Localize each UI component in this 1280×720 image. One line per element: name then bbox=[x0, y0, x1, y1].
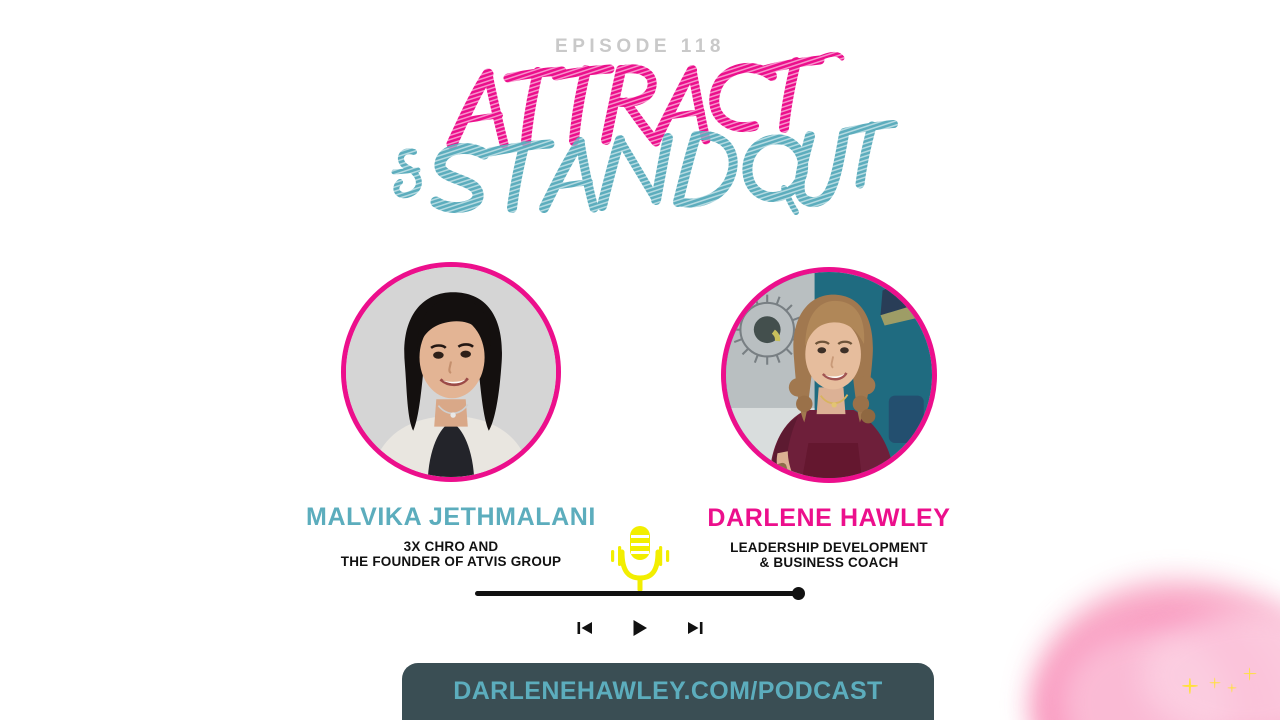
title-line-stand-out bbox=[394, 124, 894, 212]
microphone-icon bbox=[609, 524, 671, 594]
progress-knob[interactable] bbox=[792, 587, 805, 600]
podcast-url-bar[interactable]: DARLENEHAWLEY.COM/PODCAST bbox=[402, 663, 934, 720]
play-icon bbox=[630, 618, 650, 638]
skip-previous-icon bbox=[576, 619, 594, 637]
player-controls bbox=[576, 618, 704, 638]
podcast-url-text: DARLENEHAWLEY.COM/PODCAST bbox=[453, 677, 882, 706]
sparkle-icon bbox=[1182, 678, 1198, 694]
podcast-episode-graphic: EPISODE 118 bbox=[0, 0, 1280, 720]
avatar-image-darlene bbox=[726, 272, 932, 478]
sparkle-icon bbox=[1209, 677, 1220, 688]
episode-label: EPISODE 118 bbox=[0, 36, 1280, 58]
skip-next-icon bbox=[686, 619, 704, 637]
watercolor-blob bbox=[1060, 630, 1230, 720]
sparkle-icon bbox=[1227, 683, 1236, 692]
avatar-image-malvika bbox=[346, 267, 556, 477]
progress-bar[interactable] bbox=[475, 586, 805, 600]
title-line-attract bbox=[452, 54, 842, 144]
progress-track[interactable] bbox=[475, 591, 797, 596]
show-title-logo-svg bbox=[380, 48, 900, 218]
show-title-logo bbox=[0, 48, 1280, 218]
audio-player bbox=[0, 524, 1280, 638]
avatar bbox=[721, 267, 937, 483]
play-button[interactable] bbox=[630, 618, 650, 638]
previous-track-button[interactable] bbox=[576, 619, 594, 637]
next-track-button[interactable] bbox=[686, 619, 704, 637]
sparkle-icon bbox=[1243, 667, 1256, 680]
avatar bbox=[341, 262, 561, 482]
